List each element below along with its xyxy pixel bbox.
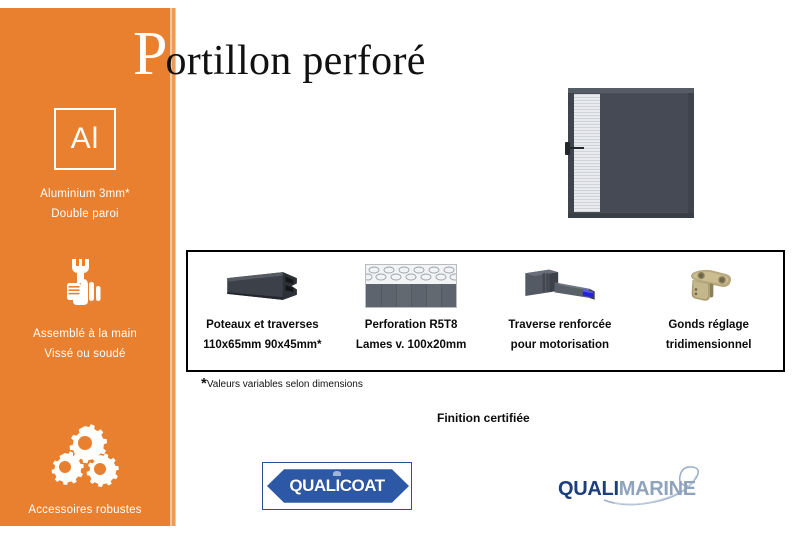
gate-top-rail <box>568 88 694 93</box>
gears-accessories-icon <box>0 420 170 490</box>
sidebar-item-assembly-line1: Assemblé à la main <box>0 324 170 344</box>
features-box: Poteaux et traverses 110x65mm 90x45mm* <box>186 250 785 372</box>
feature-traverse: Traverse renforcée pour motorisation <box>486 252 635 370</box>
sidebar-item-accessories-line1: Accessoires robustes <box>0 500 170 520</box>
gate-perforated-section <box>574 94 600 212</box>
aluminium-profile-icon <box>188 260 337 312</box>
al-badge-label: Al <box>71 124 100 154</box>
gate-right-post <box>688 88 694 218</box>
feature-traverse-line1: Traverse renforcée <box>508 318 611 333</box>
reinforced-crossbar-icon <box>486 260 635 312</box>
feature-gonds: Gonds réglage tridimensionnel <box>634 252 783 370</box>
feature-traverse-line2: pour motorisation <box>511 338 609 353</box>
page-title-initial: P <box>133 20 167 88</box>
sidebar-item-aluminium-line2: Double paroi <box>0 204 170 224</box>
feature-perforation-line1: Perforation R5T8 <box>365 318 458 333</box>
sidebar-item-aluminium-line1: Aluminium 3mm* <box>0 184 170 204</box>
product-sheet-page: Al Aluminium 3mm* Double paroi Assemblé … <box>0 0 800 534</box>
perforation-swatch-icon <box>337 260 486 312</box>
feature-poteaux-line1: Poteaux et traverses <box>206 318 319 333</box>
sidebar-item-aluminium: Al Aluminium 3mm* Double paroi <box>0 108 170 224</box>
page-title-rest: ortillon perforé <box>165 38 425 84</box>
gate-handle-bar-icon <box>570 147 584 149</box>
page-title: Portillon perforé <box>133 24 426 84</box>
feature-gonds-line2: tridimensionnel <box>666 338 752 353</box>
qualimarine-logo: QUALIMARINE <box>556 466 708 508</box>
aluminium-al-square-icon: Al <box>54 108 116 170</box>
footnote-text: Valeurs variables selon dimensions <box>207 379 363 390</box>
feature-perforation: Perforation R5T8 Lames v. 100x20mm <box>337 252 486 370</box>
adjustable-hinge-icon <box>634 260 783 312</box>
qualimarine-text-part1: QUALI <box>558 478 619 500</box>
qualimarine-logo-text: QUALIMARINE <box>558 478 696 501</box>
qualimarine-text-part2: MARINE <box>619 478 696 500</box>
feature-poteaux: Poteaux et traverses 110x65mm 90x45mm* <box>188 252 337 370</box>
sidebar-item-accessories: Accessoires robustes <box>0 420 170 520</box>
feature-perforation-line2: Lames v. 100x20mm <box>356 338 466 353</box>
gate-bottom-rail <box>568 213 694 218</box>
wrench-hand-assembly-icon <box>0 252 170 314</box>
feature-poteaux-line2: 110x65mm 90x45mm* <box>203 338 321 353</box>
portillon-perfore-gate-photo <box>568 88 694 218</box>
sidebar-mid-edge <box>172 8 175 526</box>
qualicoat-logo: QUALICOAT <box>262 462 412 510</box>
sidebar-item-assembly-line2: Vissé ou soudé <box>0 344 170 364</box>
feature-gonds-line1: Gonds réglage <box>668 318 749 333</box>
finition-certifiee-label: Finition certifiée <box>437 411 530 425</box>
qualicoat-logo-text: QUALICOAT <box>263 463 411 509</box>
footnote: *Valeurs variables selon dimensions <box>201 379 363 390</box>
sidebar-item-assembly: Assemblé à la main Vissé ou soudé <box>0 252 170 364</box>
